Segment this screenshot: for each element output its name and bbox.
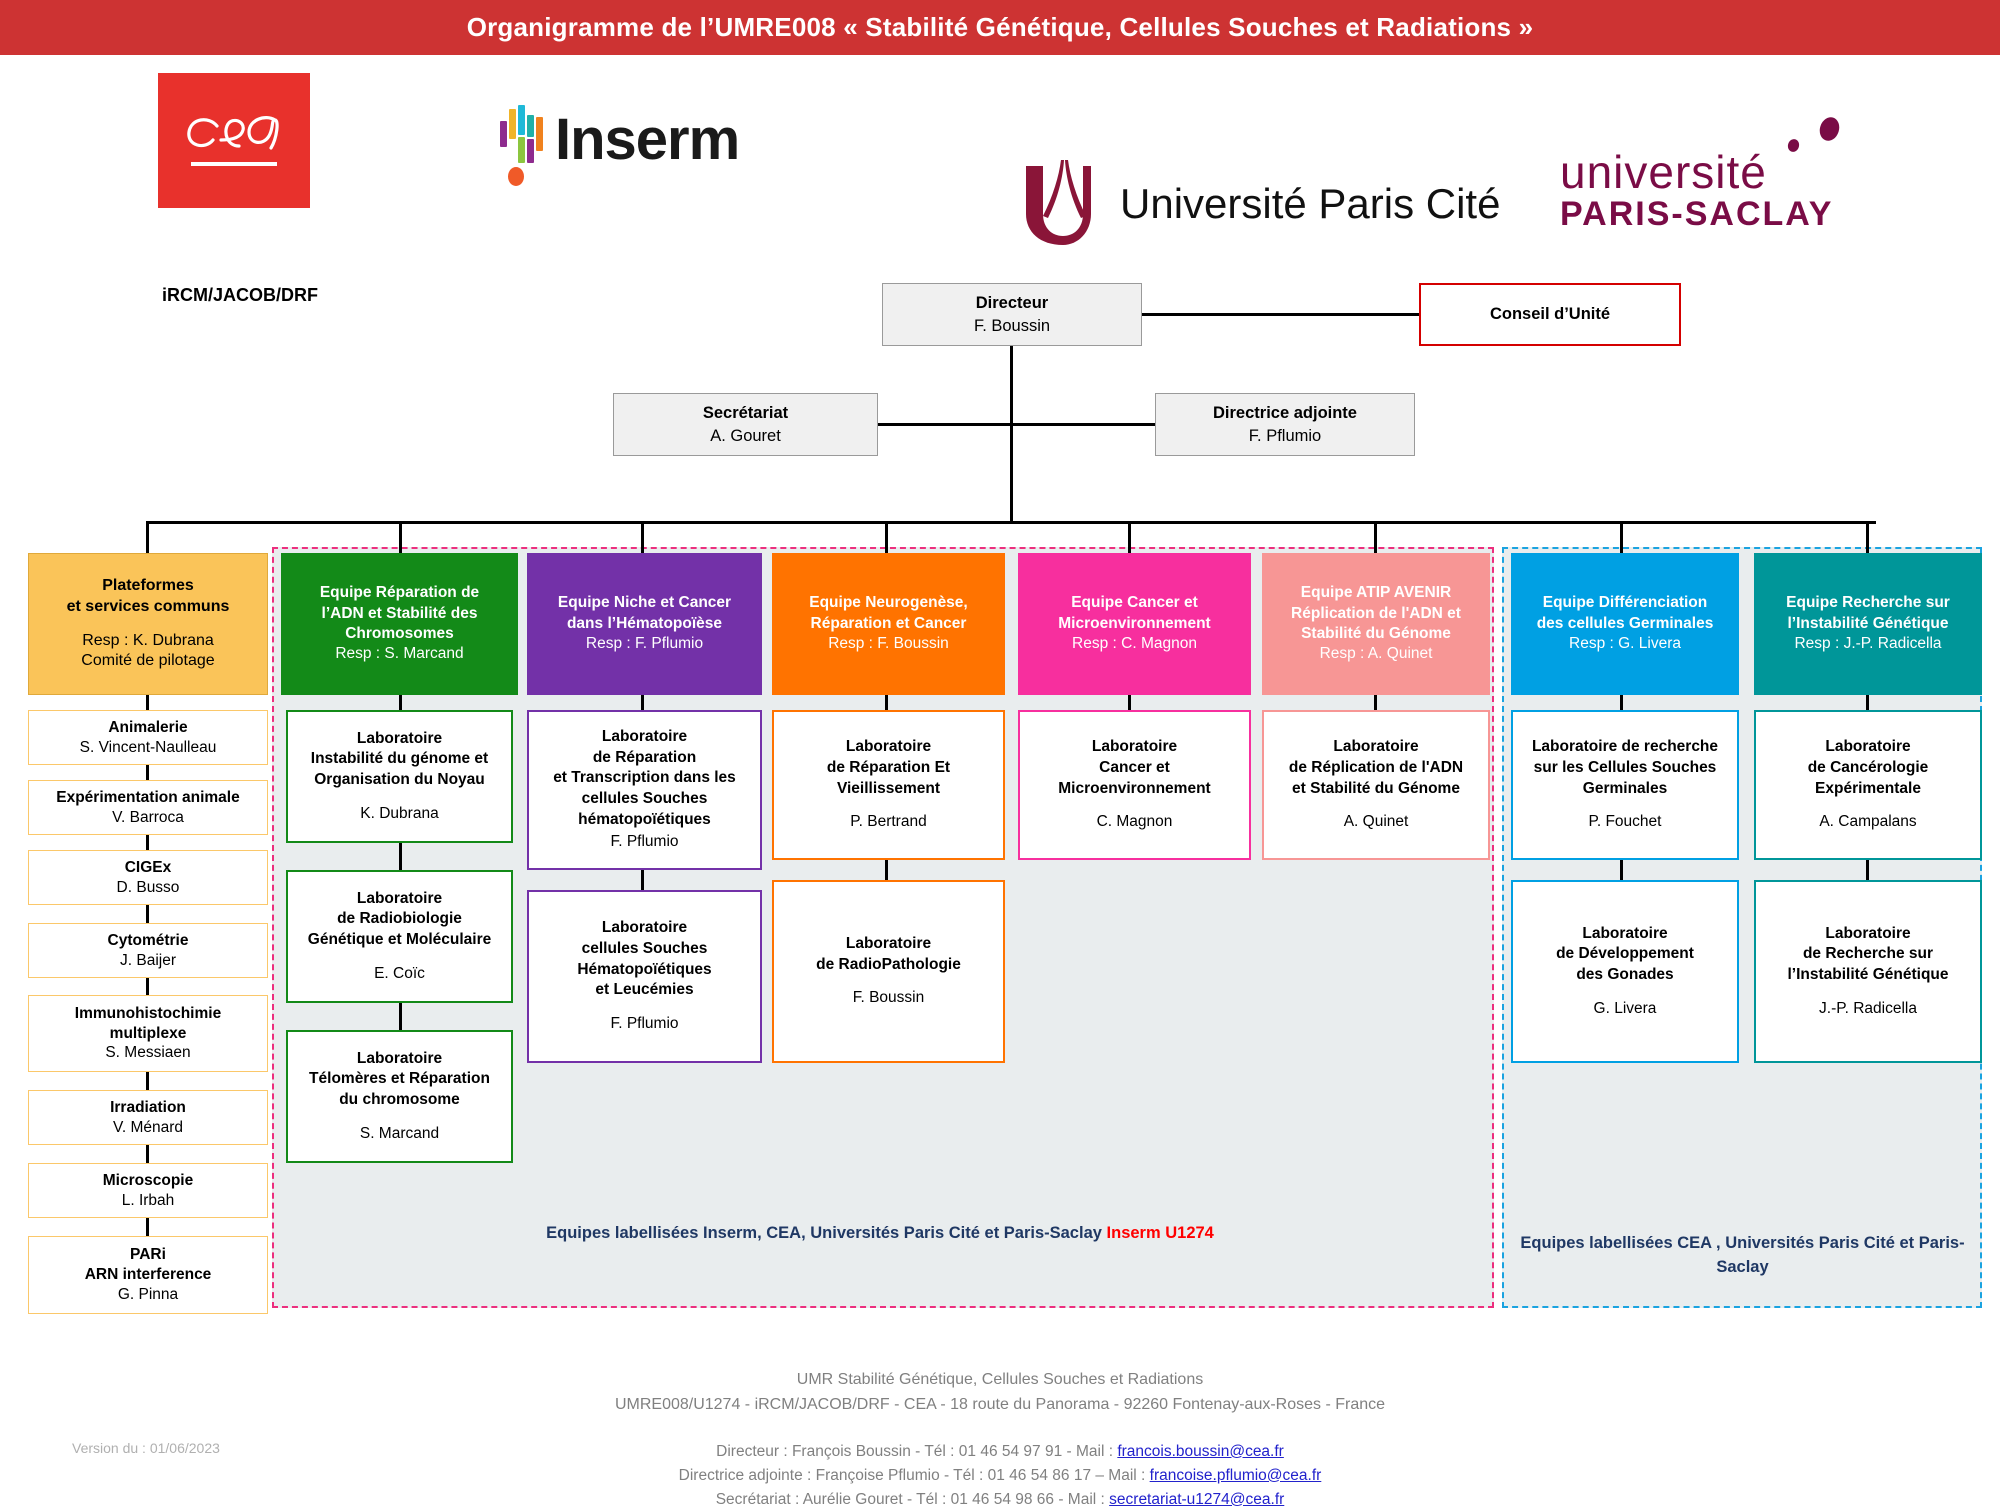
lab-line: de Recherche sur [1756, 944, 1980, 965]
lab-reparation-transcription-csh[interactable]: Laboratoire de Réparation et Transcripti… [527, 710, 762, 870]
lab-line: l’Instabilité Génétique [1756, 965, 1980, 986]
platform-item-pari[interactable]: PARi ARN interference G. Pinna [28, 1236, 268, 1314]
lab-line: de Réparation [529, 748, 760, 769]
footer-line2: UMRE008/U1274 - iRCM/JACOB/DRF - CEA - 1… [0, 1393, 2000, 1418]
lab-radiopathologie[interactable]: Laboratoire de RadioPathologie F. Boussi… [772, 880, 1005, 1063]
ups-dot-small-icon [1787, 138, 1801, 154]
team-head-resp: Resp : S. Marcand [281, 644, 518, 664]
team-head-resp: Resp : F. Boussin [772, 634, 1005, 654]
platform-item-cytometrie[interactable]: Cytométrie J. Baijer [28, 923, 268, 978]
platform-item-title: PARi [29, 1245, 267, 1265]
team-head-line: Equipe Recherche sur [1754, 593, 1982, 613]
connector-platform-6 [146, 1145, 149, 1163]
lab-cellules-souches-leucemies[interactable]: Laboratoire cellules Souches Hématopoïét… [527, 890, 762, 1063]
platform-resp: Resp : K. Dubrana [29, 631, 267, 652]
adjointe-name: F. Pflumio [1156, 425, 1414, 447]
platform-item-name: S. Messiaen [29, 1043, 267, 1063]
platform-item-title: Microscopie [29, 1171, 267, 1191]
lab-line: sur les Cellules Souches [1513, 758, 1737, 779]
connector-drop-platform [146, 521, 149, 553]
connector-drop-team-2 [641, 521, 644, 553]
directeur-title: Directeur [883, 292, 1141, 314]
team-head-reparation-adn[interactable]: Equipe Réparation de l’ADN et Stabilité … [281, 553, 518, 695]
page-title: Organigramme de l’UMRE008 « Stabilité Gé… [467, 12, 1534, 43]
upc-line1: Université [1120, 180, 1307, 227]
inserm-dot-icon [508, 167, 524, 186]
team-head-line: l’Instabilité Génétique [1754, 614, 1982, 634]
secretariat-title: Secrétariat [614, 402, 877, 424]
lab-line: de Développement [1513, 944, 1737, 965]
lab-radiobiologie-genetique[interactable]: Laboratoire de Radiobiologie Génétique e… [286, 870, 513, 1003]
connector-team3-lab1 [885, 695, 888, 710]
lab-line: Laboratoire [774, 737, 1003, 758]
team-head-line: dans l’Hématopoïèse [527, 614, 762, 634]
platform-item-name: V. Ménard [29, 1118, 267, 1138]
connector-drop-team-3 [885, 521, 888, 553]
team-head-recherche-instabilite[interactable]: Equipe Recherche sur l’Instabilité Génét… [1754, 553, 1982, 695]
group-inserm-line1: Equipes labellisées [546, 1224, 698, 1242]
cea-logo [158, 73, 310, 208]
platform-head-box[interactable]: Plateformes et services communs Resp : K… [28, 553, 268, 695]
lab-line: Laboratoire [529, 918, 760, 939]
platform-item-name: G. Pinna [29, 1285, 267, 1305]
lab-name: A. Quinet [1264, 812, 1488, 833]
platform-item-title2: ARN interference [29, 1265, 267, 1285]
connector-team3-lab2 [885, 860, 888, 880]
platform-comite: Comité de pilotage [29, 651, 267, 672]
inserm-logo: Inserm [500, 105, 739, 167]
lab-line: Laboratoire [1513, 924, 1737, 945]
lab-name: K. Dubrana [288, 804, 511, 825]
lab-name: J.-P. Radicella [1756, 999, 1980, 1020]
platform-item-name: V. Barroca [29, 808, 267, 828]
connector-drop-team-6 [1620, 521, 1623, 553]
lab-line: Laboratoire [1756, 924, 1980, 945]
lab-line: Laboratoire [1264, 737, 1488, 758]
platform-item-irradiation[interactable]: Irradiation V. Ménard [28, 1090, 268, 1145]
title-bar: Organigramme de l’UMRE008 « Stabilité Gé… [0, 0, 2000, 55]
lab-developpement-gonades[interactable]: Laboratoire de Développement des Gonades… [1511, 880, 1739, 1063]
platform-item-title: CIGEx [29, 858, 267, 878]
connector-platform-7 [146, 1218, 149, 1236]
lab-name: F. Pflumio [529, 1014, 760, 1035]
lab-line: Expérimentale [1756, 779, 1980, 800]
lab-line: de Cancérologie [1756, 758, 1980, 779]
connector-drop-team-7 [1866, 521, 1869, 553]
conseil-title: Conseil d’Unité [1421, 305, 1679, 324]
lab-name: F. Pflumio [529, 832, 760, 853]
lab-line: et Stabilité du Génome [1264, 779, 1488, 800]
connector-team6-lab2 [1620, 860, 1623, 880]
connector-main-bus [146, 521, 1876, 524]
group-inserm-label: Equipes labellisées Inserm, CEA, Univers… [290, 1222, 1470, 1246]
ups-line1: université [1560, 145, 1833, 199]
platform-item-title2: multiplexe [29, 1024, 267, 1044]
ups-dot-large-icon [1817, 115, 1842, 144]
team-head-line: l’ADN et Stabilité des [281, 604, 518, 624]
connector-team4-lab1 [1128, 695, 1131, 710]
connector-team7-lab2 [1866, 860, 1869, 880]
team-head-atip-avenir[interactable]: Equipe ATIP AVENIR Réplication de l'ADN … [1262, 553, 1490, 695]
connector-secretariat-adjointe [878, 423, 1155, 426]
adjointe-title: Directrice adjointe [1156, 402, 1414, 424]
connector-team6-lab1 [1620, 695, 1623, 710]
platform-item-microscopie[interactable]: Microscopie L. Irbah [28, 1163, 268, 1218]
lab-reparation-vieillissement[interactable]: Laboratoire de Réparation Et Vieillissem… [772, 710, 1005, 860]
lab-line: Laboratoire [288, 1049, 511, 1070]
platform-item-title: Irradiation [29, 1098, 267, 1118]
universite-paris-cite-logo: Université Paris Cité [1020, 160, 1500, 248]
cea-caption: iRCM/JACOB/DRF [130, 285, 350, 306]
team-head-resp: Resp : A. Quinet [1262, 644, 1490, 664]
team-head-line: Chromosomes [281, 624, 518, 644]
logo-row: iRCM/JACOB/DRF Inserm Université Paris C… [0, 60, 2000, 220]
lab-line: de Radiobiologie [288, 909, 511, 930]
secretariat-box[interactable]: Secrétariat A. Gouret [613, 393, 878, 456]
connector-platform-1 [146, 765, 149, 780]
group-cea-line2: CEA , Universités Paris Cité et Paris-Sa… [1677, 1234, 1964, 1276]
inserm-wordmark: Inserm [555, 112, 739, 167]
lab-telomeres-reparation[interactable]: Laboratoire Télomères et Réparation du c… [286, 1030, 513, 1163]
footer-directeur-mail[interactable]: francois.boussin@cea.fr [1117, 1443, 1284, 1460]
connector-platform-2 [146, 835, 149, 850]
upc-mark-icon [1020, 160, 1106, 248]
team-head-line: Equipe Différenciation [1511, 593, 1739, 613]
ups-line2: PARIS-SACLAY [1560, 195, 1833, 234]
lab-line: Laboratoire de recherche [1513, 737, 1737, 758]
lab-recherche-instabilite-genetique[interactable]: Laboratoire de Recherche sur l’Instabili… [1754, 880, 1982, 1063]
platform-item-name: L. Irbah [29, 1191, 267, 1211]
footer-line1: UMR Stabilité Génétique, Cellules Souche… [0, 1368, 2000, 1393]
connector-platform-4 [146, 978, 149, 995]
team-head-niche-cancer[interactable]: Equipe Niche et Cancer dans l’Hématopoïe… [527, 553, 762, 695]
team-head-line: Stabilité du Génome [1262, 624, 1490, 644]
connector-team1-lab2 [399, 843, 402, 870]
team-head-resp: Resp : F. Pflumio [527, 634, 762, 654]
directeur-box[interactable]: Directeur F. Boussin [882, 283, 1142, 346]
lab-line: Laboratoire [1756, 737, 1980, 758]
lab-line: Laboratoire [774, 934, 1003, 955]
lab-name: A. Campalans [1756, 812, 1980, 833]
footer-adjointe-prefix: Directrice adjointe : Françoise Pflumio … [679, 1467, 1150, 1484]
lab-line: Instabilité du génome et [288, 749, 511, 770]
lab-line: et Transcription dans les [529, 768, 760, 789]
lab-line: Laboratoire [1020, 737, 1249, 758]
lab-name: P. Bertrand [774, 812, 1003, 833]
connector-drop-team-5 [1374, 521, 1377, 553]
team-head-resp: Resp : C. Magnon [1018, 634, 1251, 654]
lab-line: Vieillissement [774, 779, 1003, 800]
team-head-line: Equipe Neurogenèse, [772, 593, 1005, 613]
team-head-cancer-microenvironnement[interactable]: Equipe Cancer et Microenvironnement Resp… [1018, 553, 1251, 695]
lab-name: E. Coïc [288, 964, 511, 985]
group-cea-line1: Equipes labellisées [1520, 1234, 1672, 1252]
footer: UMR Stabilité Génétique, Cellules Souche… [0, 1368, 2000, 1512]
lab-name: P. Fouchet [1513, 812, 1737, 833]
footer-adjointe: Directrice adjointe : Françoise Pflumio … [0, 1464, 2000, 1488]
ups-line1-text: université [1560, 146, 1767, 198]
platform-item-animalerie[interactable]: Animalerie S. Vincent-Naulleau [28, 710, 268, 765]
lab-name: G. Livera [1513, 999, 1737, 1020]
lab-cancer-microenvironnement[interactable]: Laboratoire Cancer et Microenvironnement… [1018, 710, 1251, 860]
connector-platform-0 [146, 695, 149, 710]
platform-line1: Plateformes [29, 576, 267, 597]
connector-drop-team-1 [399, 521, 402, 553]
lab-line: de Réplication de l'ADN [1264, 758, 1488, 779]
connector-team2-lab1 [641, 695, 644, 710]
connector-team7-lab1 [1866, 695, 1869, 710]
lab-name: S. Marcand [288, 1124, 511, 1145]
lab-line: Génétique et Moléculaire [288, 930, 511, 951]
lab-line: de RadioPathologie [774, 955, 1003, 976]
connector-platform-3 [146, 905, 149, 923]
group-inserm-line2: Inserm, CEA, Universités Paris Cité et P… [703, 1224, 1102, 1242]
lab-line: cellules Souches [529, 939, 760, 960]
platform-item-experimentation-animale[interactable]: Expérimentation animale V. Barroca [28, 780, 268, 835]
footer-secretariat-mail[interactable]: secretariat-u1274@cea.fr [1109, 1491, 1284, 1508]
lab-line: hématopoïétiques [529, 810, 760, 831]
directeur-name: F. Boussin [883, 315, 1141, 337]
lab-line: du chromosome [288, 1090, 511, 1111]
team-head-resp: Resp : J.-P. Radicella [1754, 634, 1982, 654]
directrice-adjointe-box[interactable]: Directrice adjointe F. Pflumio [1155, 393, 1415, 456]
connector-team2-lab2 [641, 870, 644, 890]
lab-line: Laboratoire [288, 729, 511, 750]
team-head-line: Equipe Réparation de [281, 583, 518, 603]
footer-adjointe-mail[interactable]: francoise.pflumio@cea.fr [1150, 1467, 1322, 1484]
lab-line: cellules Souches [529, 789, 760, 810]
upc-line2: Paris Cité [1318, 180, 1500, 227]
platform-item-name: S. Vincent-Naulleau [29, 738, 267, 758]
platform-item-name: J. Baijer [29, 951, 267, 971]
lab-line: des Gonades [1513, 965, 1737, 986]
footer-directeur: Directeur : François Boussin - Tél : 01 … [0, 1440, 2000, 1464]
connector-directeur-down [1010, 346, 1013, 523]
lab-line: Laboratoire [288, 889, 511, 910]
platform-item-name: D. Busso [29, 878, 267, 898]
platform-item-immunohistochimie[interactable]: Immunohistochimie multiplexe S. Messiaen [28, 995, 268, 1072]
team-head-line: Equipe ATIP AVENIR [1262, 583, 1490, 603]
footer-directeur-prefix: Directeur : François Boussin - Tél : 01 … [716, 1443, 1117, 1460]
connector-team1-lab1 [399, 695, 402, 710]
group-inserm-line3: Inserm U1274 [1107, 1224, 1214, 1242]
team-head-resp: Resp : G. Livera [1511, 634, 1739, 654]
connector-team1-lab3 [399, 1003, 402, 1030]
version-label: Version du : 01/06/2023 [72, 1440, 220, 1456]
cea-wordmark-icon [179, 104, 289, 178]
lab-line: Cancer et [1020, 758, 1249, 779]
lab-name: F. Boussin [774, 988, 1003, 1009]
platform-item-cigex[interactable]: CIGEx D. Busso [28, 850, 268, 905]
lab-line: et Leucémies [529, 980, 760, 1001]
team-head-line: Equipe Niche et Cancer [527, 593, 762, 613]
lab-line: Microenvironnement [1020, 779, 1249, 800]
platform-line2: et services communs [29, 597, 267, 618]
upc-wordmark: Université Paris Cité [1120, 183, 1500, 226]
universite-paris-saclay-logo: université PARIS-SACLAY [1560, 145, 1833, 234]
lab-instabilite-genome[interactable]: Laboratoire Instabilité du génome et Org… [286, 710, 513, 843]
team-head-line: Réplication de l'ADN et [1262, 604, 1490, 624]
lab-line: de Réparation Et [774, 758, 1003, 779]
connector-team5-lab1 [1374, 695, 1377, 710]
secretariat-name: A. Gouret [614, 425, 877, 447]
team-head-line: Microenvironnement [1018, 614, 1251, 634]
platform-item-title: Expérimentation animale [29, 788, 267, 808]
lab-cancerologie-experimentale[interactable]: Laboratoire de Cancérologie Expérimental… [1754, 710, 1982, 860]
platform-item-title: Immunohistochimie [29, 1004, 267, 1024]
team-head-neurogenese[interactable]: Equipe Neurogenèse, Réparation et Cancer… [772, 553, 1005, 695]
lab-line: Télomères et Réparation [288, 1069, 511, 1090]
group-cea-label: Equipes labellisées CEA , Universités Pa… [1510, 1232, 1975, 1280]
connector-platform-5 [146, 1072, 149, 1090]
team-head-line: Réparation et Cancer [772, 614, 1005, 634]
lab-name: C. Magnon [1020, 812, 1249, 833]
platform-item-title: Animalerie [29, 718, 267, 738]
team-head-line: des cellules Germinales [1511, 614, 1739, 634]
lab-replication-adn-stabilite[interactable]: Laboratoire de Réplication de l'ADN et S… [1262, 710, 1490, 860]
lab-line: Germinales [1513, 779, 1737, 800]
inserm-bars-icon [500, 105, 545, 163]
connector-drop-team-4 [1128, 521, 1131, 553]
lab-line: Hématopoïétiques [529, 960, 760, 981]
lab-cellules-souches-germinales[interactable]: Laboratoire de recherche sur les Cellule… [1511, 710, 1739, 860]
conseil-unite-box[interactable]: Conseil d’Unité [1419, 283, 1681, 346]
lab-line: Laboratoire [529, 727, 760, 748]
platform-item-title: Cytométrie [29, 931, 267, 951]
team-head-line: Equipe Cancer et [1018, 593, 1251, 613]
team-head-differenciation-germinales[interactable]: Equipe Différenciation des cellules Germ… [1511, 553, 1739, 695]
connector-directeur-conseil [1142, 313, 1419, 316]
footer-secretariat-prefix: Secrétariat : Aurélie Gouret - Tél : 01 … [716, 1491, 1109, 1508]
lab-line: Organisation du Noyau [288, 770, 511, 791]
